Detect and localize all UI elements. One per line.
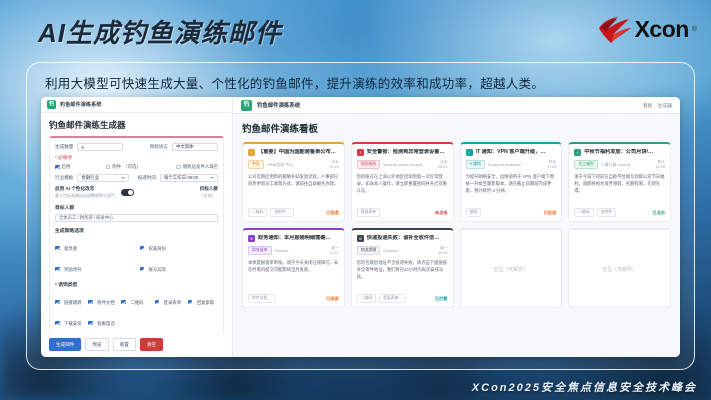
card-footer: 附件文档…已阅读	[248, 294, 339, 303]
checkbox-strategy-2-box[interactable]	[55, 267, 60, 272]
target-group-title: 目标人群	[200, 186, 218, 192]
target-group-hint: （可选）	[200, 193, 218, 199]
card-body: 您的包裹因地址不全投递失败，请点击下面链接补全寄件地址，我们将在24小时内再次安…	[357, 260, 448, 290]
ai-rewrite-row: 启用 AI 个性化改写 基于目标画像自动调整称呼与语气 目标人群 （可选）	[55, 186, 218, 199]
checkbox-attachment-label: 附件	[112, 164, 121, 170]
card-tag: 二维码	[357, 294, 376, 303]
email-card[interactable]: ✓中秋节福利发放：公司月饼/…员工福利人事行政-noreply…昨天12:30请…	[568, 142, 671, 222]
warning-icon: !	[248, 149, 255, 156]
slide-footer: XCon2025安全焦点信息安全技术峰会	[472, 379, 697, 395]
checkbox-bait-4-box[interactable]	[188, 300, 193, 305]
card-status: 未点击	[435, 210, 448, 216]
ai-rewrite-label: 启用 AI 个性化改写	[55, 186, 115, 192]
checkbox-bait-1-box[interactable]	[88, 300, 93, 305]
slide-background: AI生成钓鱼演练邮件 Xcon ® 利用大模型可快速生成大量、个性化的钓鱼邮件，…	[0, 0, 711, 400]
card-sender: it-support-deskcare…	[488, 162, 544, 167]
card-tag: 登录表单…	[379, 294, 406, 303]
card-title: 中秋节福利发放：公司月饼/…	[584, 149, 653, 156]
target-group-label: 目标人群	[55, 204, 218, 211]
checkbox-random-domain[interactable]: 随机化发件人域名	[176, 164, 218, 170]
card-timestamp: 今天09:24	[330, 160, 339, 169]
info-icon: i	[466, 149, 473, 156]
nav-generator[interactable]: 生成器	[658, 102, 672, 109]
card-footer: 二维码含附件已点击	[574, 208, 665, 217]
card-sender: Express…	[383, 248, 435, 253]
card-sender: 人事行政-noreply…	[601, 162, 653, 168]
schedule-label: 投递时间	[138, 175, 156, 181]
checkbox-bait-2-label: 二维码	[130, 300, 143, 305]
checkbox-bait-4-label: 回复索取	[197, 300, 215, 305]
options-checkbox-row: 启用 附件 （可选） 随机化发件人域名	[55, 164, 218, 170]
target-group-input[interactable]: 全体员工 / 财务部 / 研发中心	[55, 214, 218, 222]
card-header: ✓中秋节福利发放：公司月饼/…	[574, 149, 665, 156]
card-header: ¥财务通知：本月报销明细需确…	[248, 235, 339, 242]
card-status: 已点击	[652, 210, 665, 216]
delivery-failed-icon: ⊘	[357, 235, 364, 242]
card-meta: 中危HR@总部.中心…今天09:24	[248, 160, 339, 169]
screenshot-board: 钓 钓鱼邮件演练系统 钓鱼邮件演练生成器 生成数量 6 目标语言 中文简体	[41, 97, 680, 357]
checkbox-bait-0-label: 链接跳转	[64, 300, 82, 305]
checkbox-bait-6-box[interactable]	[88, 321, 93, 326]
checkbox-bait-4[interactable]: 回复索取	[188, 291, 218, 309]
alert-icon: !	[357, 149, 364, 156]
checkbox-attachment-box[interactable]	[106, 165, 111, 170]
card-tag: 含附件…	[270, 208, 293, 217]
strategy-checkbox-grid: 紧急感 权威身份 奖励诱导	[55, 237, 218, 276]
brand-trademark: ®	[692, 26, 697, 33]
card-body: 您的账号在上海以外地区检测到第一次异常登录，如非本人操作，请立即重置密码并开启双…	[357, 174, 448, 204]
checkbox-bait-3-box[interactable]	[155, 300, 160, 305]
card-tag: 二维码	[574, 208, 593, 217]
card-footer: 登录表单未点击	[357, 208, 448, 217]
card-timestamp: 周一10:02	[438, 246, 447, 255]
dashboard-body: 钓鱼邮件演练看板 !【重要】中国为国能装备果公布…中危HR@总部.中心…今天09…	[233, 114, 680, 357]
card-severity-chip: 财务留单	[248, 246, 272, 255]
card-timestamp: 周一14:22	[330, 246, 339, 255]
generator-appbar-title: 钓鱼邮件演练系统	[60, 101, 102, 108]
content-panel: 利用大模型可快速生成大量、个性化的钓鱼邮件，提升演练的效率和成功率，超越人类。 …	[26, 62, 695, 370]
checkbox-bait-3[interactable]: 登录表单	[155, 291, 185, 309]
page-title: AI生成钓鱼演练邮件	[38, 13, 282, 50]
card-timestamp: 昨天12:30	[656, 160, 665, 169]
email-card-empty[interactable]: 空位（无邮件）	[568, 228, 671, 308]
generator-appbar: 钓 钓鱼邮件演练系统	[41, 97, 232, 113]
card-sender: security-center-noreply…	[383, 162, 435, 167]
checkbox-strategy-3[interactable]: 账号异常	[140, 258, 219, 276]
card-tag: 含附件	[597, 208, 616, 217]
checkbox-strategy-2-label: 奖励诱导	[64, 267, 82, 272]
card-severity-chip: 物流提醒	[357, 246, 381, 255]
language-input[interactable]: 中文简体	[172, 143, 218, 151]
clear-button[interactable]: 清空	[140, 338, 163, 351]
checkbox-strategy-1-box[interactable]	[140, 246, 145, 251]
email-card[interactable]: iIT 通知：VPN 客户端升级，…IT通知it-support-deskcar…	[460, 142, 563, 222]
checkbox-bait-6-label: 客服电话	[97, 321, 115, 326]
card-timestamp: 昨天17:05	[547, 160, 556, 169]
email-card[interactable]: ¥财务通知：本月报销明细需确…财务留单Finance…周一14:22本季度报销单…	[242, 228, 345, 308]
card-sender: HR@总部.中心…	[267, 162, 327, 168]
checkbox-strategy-3-label: 账号异常	[148, 267, 166, 272]
checkbox-strategy-1-label: 权威身份	[148, 246, 166, 251]
generator-actions: 生成邮件 预览 重置 清空	[41, 333, 232, 357]
email-card[interactable]: !【重要】中国为国能装备果公布…中危HR@总部.中心…今天09:24公司近期启用…	[242, 142, 345, 222]
card-severity-chip: 中危	[248, 160, 264, 169]
checkbox-enable-label: 启用	[62, 164, 71, 170]
checkbox-strategy-0-box[interactable]	[55, 246, 60, 251]
card-footer: 链接已投递	[466, 208, 557, 217]
gift-icon: ✓	[574, 149, 581, 156]
checkbox-random-domain-label: 随机化发件人域名	[183, 164, 218, 170]
checkbox-enable[interactable]: 启用	[55, 164, 70, 170]
card-status: 已拦截	[435, 296, 448, 302]
checkbox-bait-2[interactable]: 二维码	[121, 291, 151, 309]
checkbox-attachment-extra: （可选）	[123, 164, 141, 170]
card-meta: 员工福利人事行政-noreply…昨天12:30	[574, 160, 665, 169]
generator-app: 钓 钓鱼邮件演练系统 钓鱼邮件演练生成器 生成数量 6 目标语言 中文简体	[41, 97, 233, 357]
dashboard-app: 钓 钓鱼邮件演练系统 看板 生成器 钓鱼邮件演练看板 !【重要】中国为国能装备果…	[233, 97, 680, 357]
dashboard-appbar: 钓 钓鱼邮件演练系统 看板 生成器	[233, 97, 680, 114]
card-body: 公司近期启用新的薪酬补贴发放流程，人事部已同步更新员工收款方式，请前往自助服务办…	[248, 174, 339, 204]
dashboard-logo-icon: 钓	[241, 100, 252, 111]
dashboard-appbar-title: 钓鱼邮件演练系统	[257, 101, 300, 109]
count-label: 生成数量	[55, 144, 73, 150]
generator-form: 生成数量 6 目标语言 中文简体 * 必填项 启用	[49, 136, 224, 333]
card-status: 已投递	[544, 210, 557, 216]
checkbox-bait-1[interactable]: 附件文档	[88, 291, 118, 309]
checkbox-bait-3-label: 登录表单	[164, 300, 182, 305]
card-timestamp: 今天08:12	[438, 160, 447, 169]
empty-slot-label: 空位（无邮件）	[493, 266, 528, 273]
email-card[interactable]: !安全警报：检测到异常登录设备…高危紧急security-center-nore…	[351, 142, 454, 222]
card-meta: IT通知it-support-deskcare…昨天17:05	[466, 160, 557, 169]
card-footer: 二维码登录表单…已拦截	[357, 294, 448, 303]
checkbox-bait-5[interactable]: 下载安装	[55, 312, 85, 330]
card-meta: 物流提醒Express…周一10:02	[357, 246, 448, 255]
checkbox-random-domain-box[interactable]	[176, 165, 181, 170]
card-tag: 登录表单	[357, 208, 380, 217]
language-label: 目标语言	[150, 144, 168, 150]
form-row-template: 行业模板 金融行业 投递时间 每个工作日 09:00	[55, 174, 218, 182]
email-card-grid: !【重要】中国为国能装备果公布…中危HR@总部.中心…今天09:24公司近期启用…	[242, 142, 671, 308]
xcon-flame-logo-icon	[598, 14, 632, 44]
checkbox-bait-1-label: 附件文档	[97, 300, 115, 305]
card-body: 为提升网络安全，运维部将于 VPN 客户端下周统一升级至最新版本，请在截止日期前…	[466, 174, 557, 204]
schedule-select[interactable]: 每个工作日 09:00	[160, 174, 218, 182]
card-header: ⊘快递投递失败：请补全收件信…	[357, 235, 448, 242]
count-input[interactable]: 6	[77, 143, 123, 151]
card-title: 快递投递失败：请补全收件信…	[367, 235, 440, 242]
checkbox-attachment[interactable]: 附件 （可选）	[106, 164, 141, 170]
card-title: IT 通知：VPN 客户端升级，…	[476, 149, 546, 156]
required-note: * 必填项	[55, 155, 218, 161]
checkbox-strategy-2[interactable]: 奖励诱导	[55, 258, 134, 276]
checkbox-bait-0[interactable]: 链接跳转	[55, 291, 85, 309]
xcon-logo: Xcon ®	[598, 14, 697, 44]
finance-icon: ¥	[248, 235, 255, 242]
nav-board[interactable]: 看板	[643, 102, 653, 109]
industry-label: 行业模板	[55, 175, 73, 181]
card-severity-chip: 员工福利	[574, 160, 598, 169]
card-header: iIT 通知：VPN 客户端升级，…	[466, 149, 557, 156]
card-title: 安全警报：检测到异常登录设备…	[367, 149, 445, 156]
card-status: 已投递	[326, 210, 339, 216]
panel-lead-text: 利用大模型可快速生成大量、个性化的钓鱼邮件，提升演练的效率和成功率，超越人类。	[45, 73, 544, 92]
checkbox-strategy-0-label: 紧急感	[64, 246, 77, 251]
bait-group-title: * 诱饵类型	[55, 281, 218, 288]
ai-rewrite-sub: 基于目标画像自动调整称呼与语气	[55, 193, 115, 199]
bait-checkbox-grid: 链接跳转 附件文档 二维码	[55, 291, 218, 330]
card-header: !安全警报：检测到异常登录设备…	[357, 149, 448, 156]
card-tag: 二维码	[248, 208, 267, 217]
card-body: 请于今日下班前在自助平台填写领取公司节日福利，逾期将视为放弃领取，名额有限，先到…	[574, 174, 665, 204]
email-card-empty[interactable]: 空位（无邮件）	[460, 228, 563, 308]
checkbox-strategy-0[interactable]: 紧急感	[55, 237, 134, 255]
form-row-count: 生成数量 6 目标语言 中文简体	[55, 143, 218, 151]
ai-rewrite-toggle[interactable]	[121, 189, 134, 196]
card-status: 已阅读	[326, 296, 339, 302]
card-body: 本季度报销单审核，请于今天关闭在线填写，未在时限内提交可能影响当月发薪。	[248, 260, 339, 290]
card-sender: Finance…	[275, 248, 327, 253]
app-logo-icon: 钓	[47, 100, 56, 109]
card-meta: 财务留单Finance…周一14:22	[248, 246, 339, 255]
card-title: 财务通知：本月报销明细需确…	[258, 235, 331, 242]
empty-slot-label: 空位（无邮件）	[602, 266, 637, 273]
checkbox-strategy-1[interactable]: 权威身份	[140, 237, 219, 255]
generator-body: 钓鱼邮件演练生成器 生成数量 6 目标语言 中文简体 * 必填项	[41, 113, 232, 333]
checkbox-bait-5-label: 下载安装	[64, 321, 82, 326]
card-severity-chip: 高危紧急	[357, 160, 381, 169]
generator-heading: 钓鱼邮件演练生成器	[49, 119, 224, 131]
dashboard-heading: 钓鱼邮件演练看板	[242, 121, 671, 135]
card-footer: 二维码含附件…已投递	[248, 208, 339, 217]
checkbox-bait-6[interactable]: 客服电话	[88, 312, 118, 330]
card-tag: 附件文档…	[248, 294, 275, 303]
email-card[interactable]: ⊘快递投递失败：请补全收件信…物流提醒Express…周一10:02您的包裹因地…	[351, 228, 454, 308]
checkbox-enable-box[interactable]	[55, 165, 60, 170]
preview-button[interactable]: 预览	[85, 338, 108, 351]
card-title: 【重要】中国为国能装备果公布…	[258, 149, 336, 156]
card-severity-chip: IT通知	[466, 160, 485, 169]
strategy-group-title: 生成策略选项	[55, 227, 218, 234]
checkbox-strategy-3-box[interactable]	[140, 267, 145, 272]
checkbox-bait-2-box[interactable]	[121, 300, 126, 305]
brand-name: Xcon	[635, 18, 689, 41]
card-header: !【重要】中国为国能装备果公布…	[248, 149, 339, 156]
checkbox-bait-5-box[interactable]	[55, 321, 60, 326]
card-tag: 链接	[466, 208, 482, 217]
generate-button[interactable]: 生成邮件	[49, 338, 81, 351]
card-meta: 高危紧急security-center-noreply…今天08:12	[357, 160, 448, 169]
industry-select[interactable]: 金融行业	[77, 174, 129, 182]
reset-button[interactable]: 重置	[113, 338, 136, 351]
checkbox-bait-0-box[interactable]	[55, 300, 60, 305]
